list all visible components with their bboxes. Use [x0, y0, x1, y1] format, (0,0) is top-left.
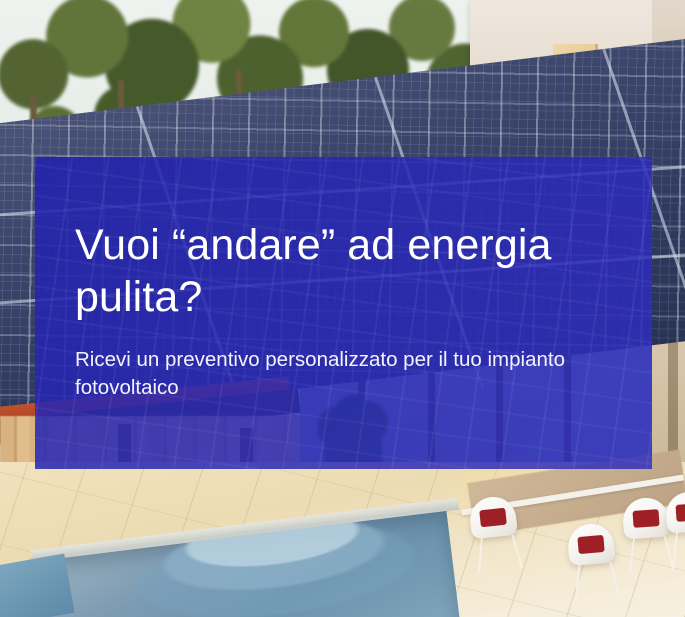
hero-overlay-card: Vuoi “andare” ad energia pulita? Ricevi … — [35, 157, 652, 469]
chair-cushion — [675, 503, 685, 522]
page-title: Vuoi “andare” ad energia pulita? — [75, 219, 610, 324]
pool-corner — [0, 554, 75, 617]
hero-subtitle: Ricevi un preventivo personalizzato per … — [75, 346, 595, 401]
chair-cushion — [479, 508, 507, 528]
chair-cushion — [632, 509, 659, 528]
chair-cushion — [577, 535, 604, 554]
hero-banner: Vuoi “andare” ad energia pulita? Ricevi … — [0, 0, 685, 617]
